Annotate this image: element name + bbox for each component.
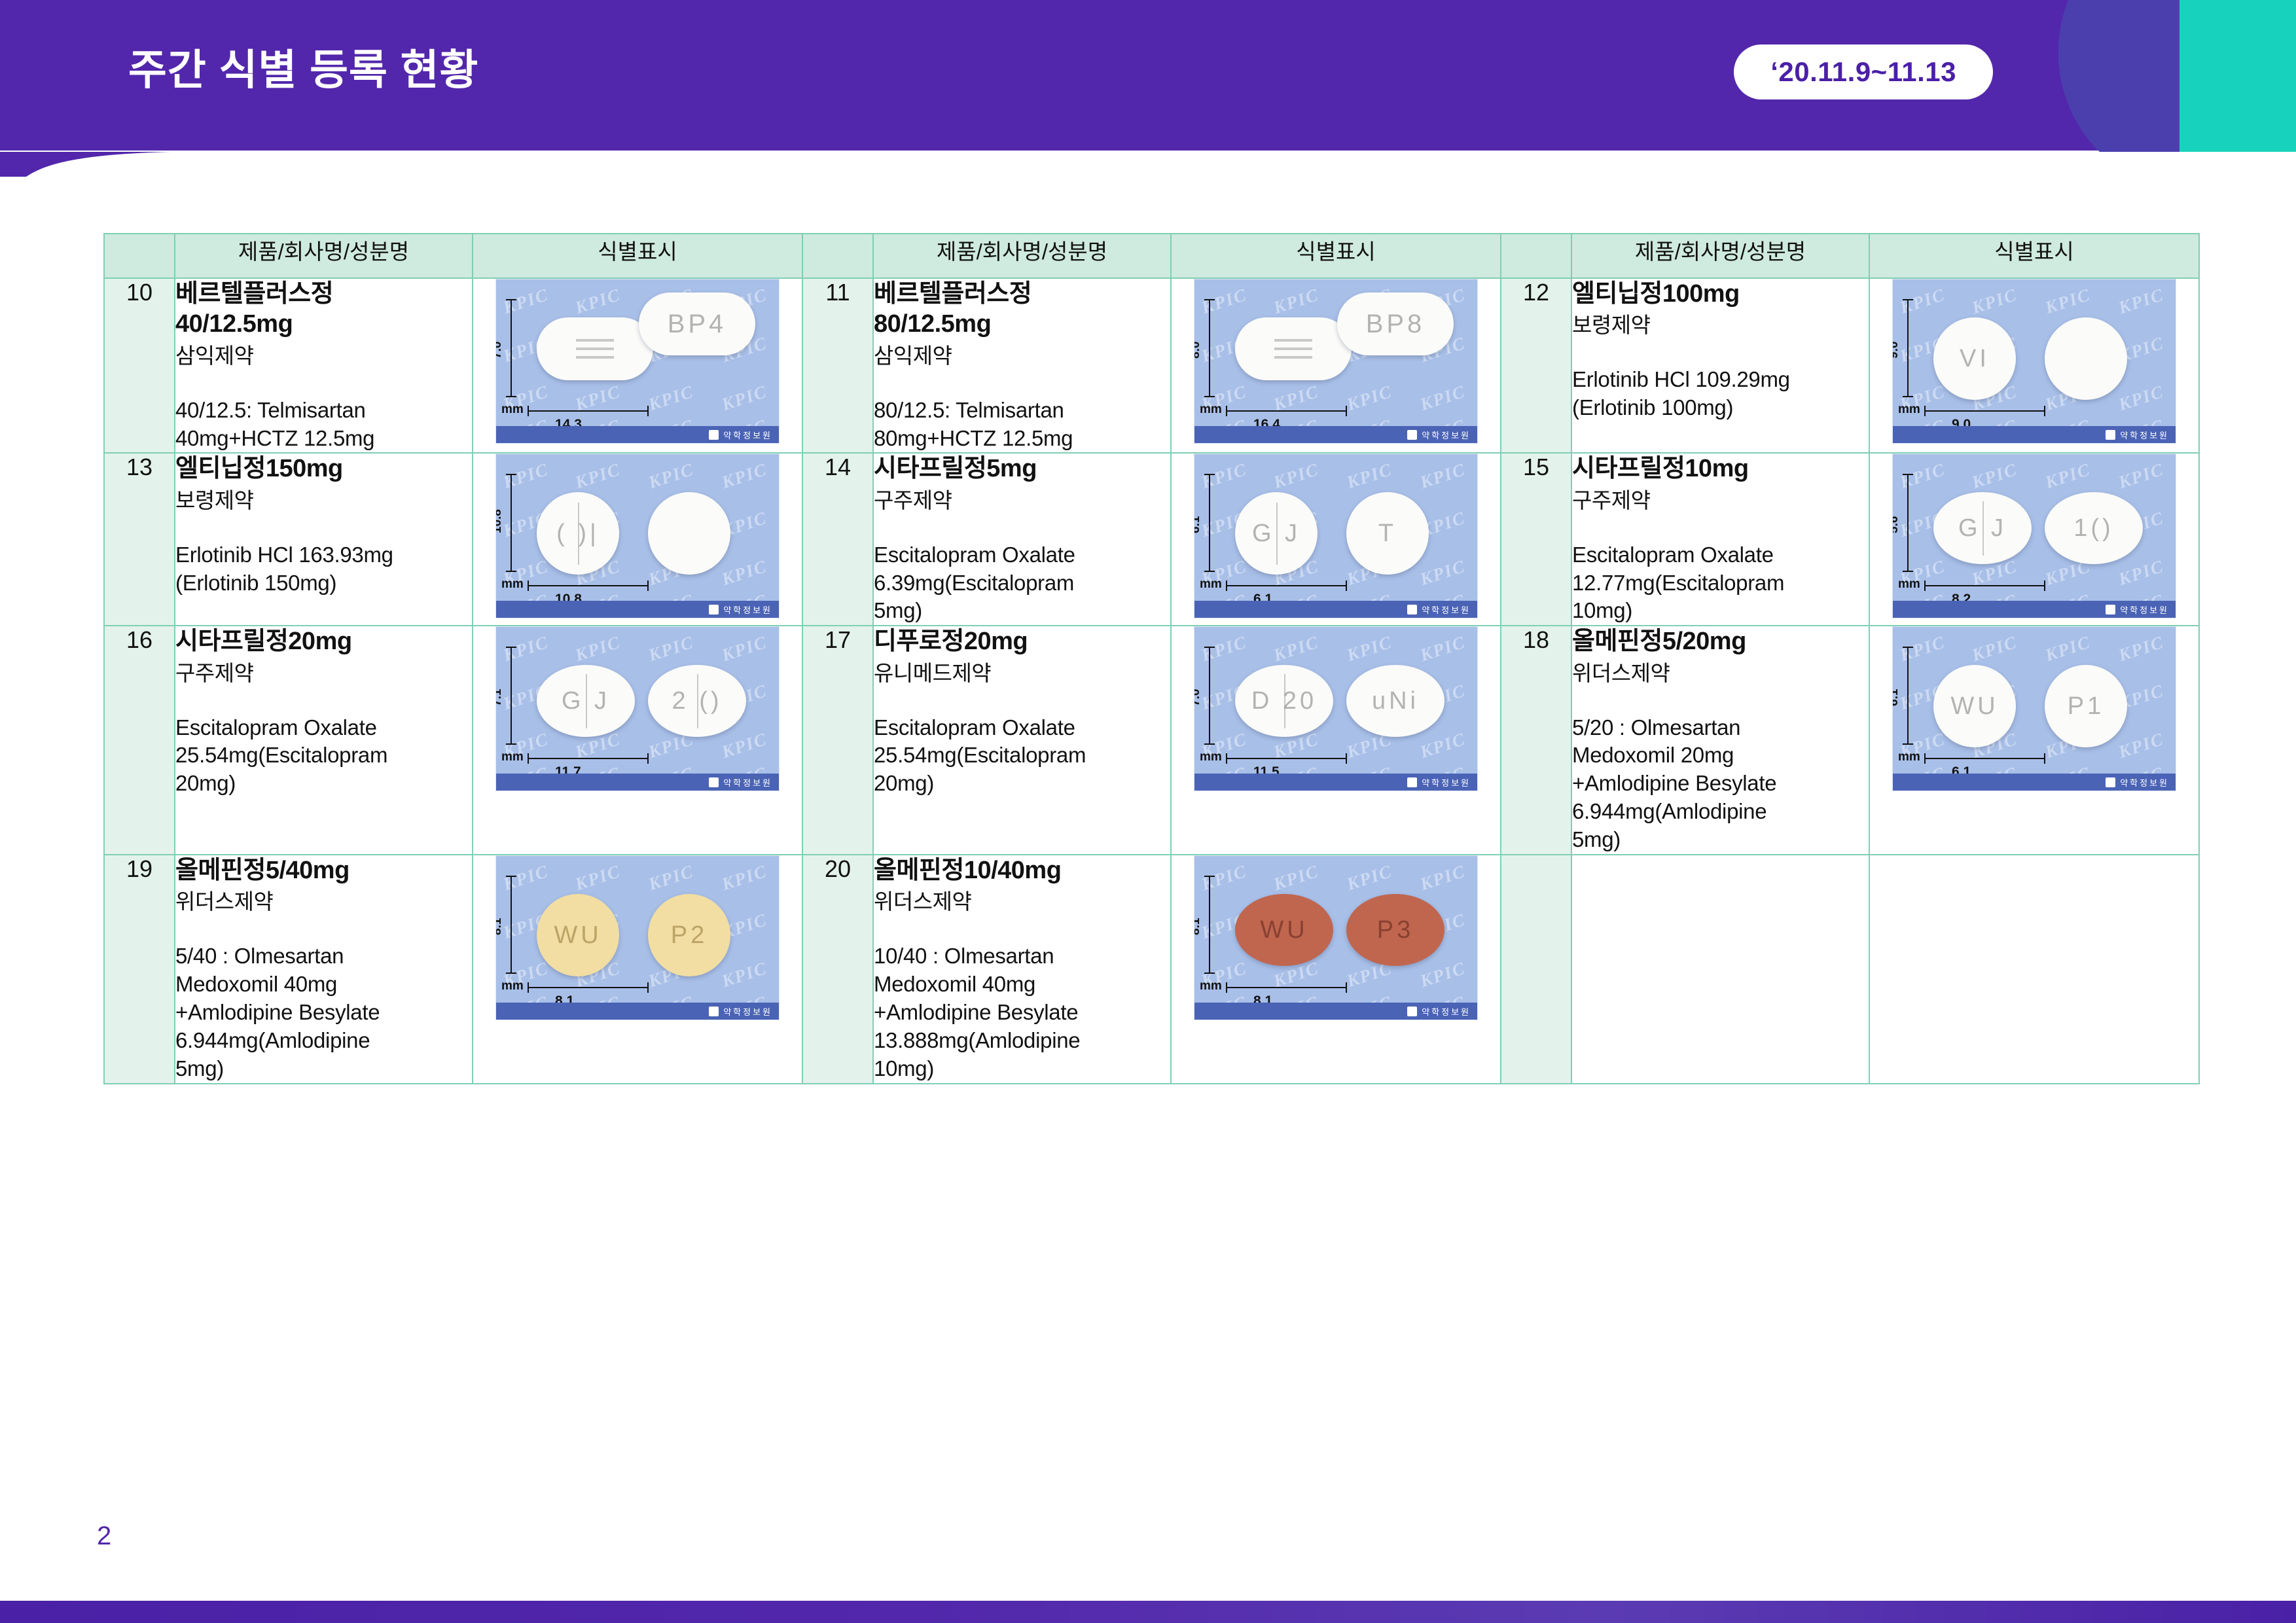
item-number: 11 (802, 278, 873, 453)
item-info-cell: 엘티닙정100mg보령제약Erlotinib HCl 109.29mg (Erl… (1571, 278, 1869, 453)
pill-score-lines (576, 339, 614, 359)
kpic-logo-icon (1407, 430, 1417, 440)
ingredient-text: Escitalopram Oxalate 6.39mg(Escitalopram… (874, 541, 1170, 626)
horizontal-scale-bar (1226, 987, 1347, 988)
pill-score-line (697, 674, 698, 729)
horizontal-scale-bar (528, 410, 649, 412)
item-info-cell: 베르텔플러스정 80/12.5mg삼익제약80/12.5: Telmisarta… (873, 278, 1171, 453)
item-info-cell: 베르텔플러스정 40/12.5mg삼익제약40/12.5: Telmisarta… (175, 278, 473, 453)
empty-info-cell (1571, 855, 1869, 1084)
vertical-scale-bar (1209, 299, 1210, 397)
pill-height-label: 9.0 (1892, 342, 1901, 359)
vertical-scale-bar (1907, 647, 1909, 745)
unit-label: mm (1200, 402, 1222, 417)
pill-imprint-text: uNi (1372, 687, 1419, 715)
pill-height-label: 5.6 (1892, 516, 1901, 533)
photo-credit-bar: 약학정보원 (1893, 601, 2176, 618)
pill-photo: KPICKPICKPICKPICKPICKPICKPICKPICKPICKPIC… (495, 279, 780, 444)
pill-illustration: VI (1933, 317, 2016, 400)
photo-credit-text: 약학정보원 (2120, 603, 2169, 616)
registration-table-wrapper: 제품/회사명/성분명 식별표시 제품/회사명/성분명 식별표시 제품/회사명/성… (103, 233, 2198, 1084)
table-header-row: 제품/회사명/성분명 식별표시 제품/회사명/성분명 식별표시 제품/회사명/성… (104, 234, 2199, 278)
col-header-image-1: 식별표시 (473, 234, 802, 278)
pill-illustration (537, 317, 653, 380)
vertical-scale-bar (1209, 647, 1210, 745)
product-name: 시타프릴정5mg (874, 454, 1170, 484)
col-header-image-3: 식별표시 (1869, 234, 2199, 278)
kpic-logo-icon (1407, 1007, 1417, 1016)
pill-photo: KPICKPICKPICKPICKPICKPICKPICKPICKPICKPIC… (1194, 279, 1478, 444)
item-number: 20 (802, 855, 873, 1084)
item-number: 13 (104, 453, 175, 626)
slide-page: 주간 식별 등록 현황 ‘20.11.9~11.13 제품/회사명/성분명 식별… (0, 0, 2296, 1623)
col-header-number-1 (104, 234, 175, 278)
pill-photo: KPICKPICKPICKPICKPICKPICKPICKPICKPICKPIC… (495, 454, 780, 618)
horizontal-scale-bar (1924, 410, 2045, 412)
item-info-cell: 올메핀정5/20mg위더스제약5/20 : Olmesartan Medoxom… (1571, 626, 1869, 855)
product-name: 베르텔플러스정 80/12.5mg (874, 279, 1170, 340)
item-number: 19 (104, 855, 175, 1084)
ingredient-text: 80/12.5: Telmisartan 80mg+HCTZ 12.5mg (874, 397, 1170, 453)
unit-label: mm (1898, 577, 1920, 592)
unit-label: mm (1200, 750, 1222, 764)
photo-credit-bar: 약학정보원 (1194, 601, 1477, 618)
pill-imprint-text: P1 (2068, 692, 2104, 721)
pill-score-line (578, 503, 579, 565)
col-header-info-3: 제품/회사명/성분명 (1571, 234, 1869, 278)
kpic-logo-icon (709, 1007, 719, 1016)
horizontal-scale-bar (1226, 410, 1347, 412)
item-info-cell: 올메핀정10/40mg위더스제약10/40 : Olmesartan Medox… (873, 855, 1171, 1084)
horizontal-scale-bar (1226, 585, 1347, 586)
company-name: 삼익제약 (874, 342, 1170, 370)
pill-illustration: WU (1933, 665, 2016, 747)
pill-score-lines (1274, 339, 1312, 359)
pill-score-line (1276, 503, 1278, 565)
company-name: 구주제약 (1572, 487, 1869, 515)
item-photo-cell: KPICKPICKPICKPICKPICKPICKPICKPICKPICKPIC… (1171, 626, 1501, 855)
horizontal-scale-bar (528, 758, 649, 759)
pill-illustration (2045, 317, 2127, 400)
horizontal-scale-bar (528, 987, 649, 988)
company-name: 구주제약 (175, 660, 472, 688)
pill-illustration: BP4 (639, 293, 755, 355)
horizontal-scale-bar (1924, 758, 2045, 759)
product-name: 올메핀정5/20mg (1572, 626, 1869, 656)
item-photo-cell: KPICKPICKPICKPICKPICKPICKPICKPICKPICKPIC… (473, 626, 802, 855)
unit-label: mm (501, 750, 524, 764)
pill-illustration (648, 492, 730, 575)
col-header-info-1: 제품/회사명/성분명 (175, 234, 473, 278)
unit-label: mm (1898, 750, 1920, 764)
item-photo-cell: KPICKPICKPICKPICKPICKPICKPICKPICKPICKPIC… (1869, 278, 2199, 453)
pill-photo: KPICKPICKPICKPICKPICKPICKPICKPICKPICKPIC… (1892, 454, 2176, 618)
item-info-cell: 디푸로정20mg유니메드제약Escitalopram Oxalate 25.54… (873, 626, 1171, 855)
vertical-scale-bar (511, 647, 512, 745)
page-number: 2 (97, 1522, 111, 1551)
item-number: 17 (802, 626, 873, 855)
pill-imprint-text: BP4 (668, 310, 727, 339)
pill-illustration: WU (1235, 894, 1333, 966)
pill-height-label: 7.0 (495, 342, 505, 359)
pill-illustration: P1 (2045, 665, 2127, 747)
item-photo-cell: KPICKPICKPICKPICKPICKPICKPICKPICKPICKPIC… (473, 855, 802, 1084)
kpic-logo-icon (2106, 777, 2115, 787)
pill-illustration: BP8 (1337, 293, 1454, 355)
company-name: 위더스제약 (175, 888, 472, 916)
unit-label: mm (501, 577, 524, 592)
item-number: 18 (1501, 626, 1571, 855)
item-photo-cell: KPICKPICKPICKPICKPICKPICKPICKPICKPICKPIC… (473, 453, 802, 626)
col-header-image-2: 식별표시 (1171, 234, 1501, 278)
pill-imprint-text: WU (1260, 916, 1308, 944)
pill-score-line (1284, 674, 1285, 729)
item-info-cell: 올메핀정5/40mg위더스제약5/40 : Olmesartan Medoxom… (175, 855, 473, 1084)
horizontal-scale-bar (1226, 758, 1347, 759)
unit-label: mm (501, 402, 524, 417)
kpic-logo-icon (709, 605, 719, 615)
pill-height-label: 6.1 (1194, 516, 1203, 533)
photo-credit-bar: 약학정보원 (1893, 426, 2176, 443)
pill-height-label: 8.1 (1194, 918, 1203, 935)
item-info-cell: 시타프릴정10mg구주제약Escitalopram Oxalate 12.77m… (1571, 453, 1869, 626)
vertical-scale-bar (1907, 299, 1909, 397)
horizontal-scale-bar (528, 585, 649, 586)
pill-illustration: 1() (2045, 492, 2143, 564)
product-name: 시타프릴정10mg (1572, 454, 1869, 484)
unit-label: mm (501, 979, 524, 993)
vertical-scale-bar (511, 474, 512, 572)
vertical-scale-bar (1209, 876, 1210, 974)
unit-label: mm (1898, 402, 1920, 417)
table-row: 13엘티닙정150mg보령제약Erlotinib HCl 163.93mg (E… (104, 453, 2199, 626)
pill-imprint-text: WU (1950, 692, 1998, 721)
item-photo-cell: KPICKPICKPICKPICKPICKPICKPICKPICKPICKPIC… (1869, 626, 2199, 855)
item-photo-cell: KPICKPICKPICKPICKPICKPICKPICKPICKPICKPIC… (1171, 453, 1501, 626)
horizontal-scale-bar (1924, 585, 2045, 586)
product-name: 베르텔플러스정 40/12.5mg (175, 279, 472, 340)
photo-credit-bar: 약학정보원 (496, 426, 779, 443)
photo-credit-text: 약학정보원 (723, 1005, 772, 1018)
ingredient-text: Escitalopram Oxalate 12.77mg(Escitalopra… (1572, 541, 1869, 626)
photo-credit-bar: 약학정보원 (1893, 774, 2176, 791)
photo-credit-bar: 약학정보원 (1194, 774, 1477, 791)
pill-illustration: T (1346, 492, 1429, 575)
photo-credit-text: 약학정보원 (723, 776, 772, 789)
pill-imprint-text: 1() (2073, 514, 2113, 543)
table-head: 제품/회사명/성분명 식별표시 제품/회사명/성분명 식별표시 제품/회사명/성… (104, 234, 2199, 278)
photo-credit-text: 약학정보원 (1422, 429, 1471, 441)
product-name: 올메핀정10/40mg (874, 855, 1170, 885)
pill-height-label: 6.1 (1892, 689, 1901, 706)
pill-score-line (586, 674, 587, 729)
pill-illustration: P3 (1346, 894, 1444, 966)
table-row: 19올메핀정5/40mg위더스제약5/40 : Olmesartan Medox… (104, 855, 2199, 1084)
table-row: 16시타프릴정20mg구주제약Escitalopram Oxalate 25.5… (104, 626, 2199, 855)
pill-illustration: 2 () (648, 665, 746, 737)
vertical-scale-bar (1209, 474, 1210, 572)
photo-credit-text: 약학정보원 (723, 603, 772, 616)
pill-illustration: D 20 (1235, 665, 1333, 737)
pill-imprint-text: WU (554, 921, 601, 950)
ingredient-text: 5/20 : Olmesartan Medoxomil 20mg +Amlodi… (1572, 714, 1869, 854)
pill-height-label: 7.0 (1194, 689, 1203, 706)
empty-photo-cell (1869, 855, 2199, 1084)
page-title: 주간 식별 등록 현황 (128, 37, 478, 97)
item-number: 16 (104, 626, 175, 855)
col-header-number-2 (802, 234, 873, 278)
ingredient-text: 5/40 : Olmesartan Medoxomil 40mg +Amlodi… (175, 942, 472, 1082)
pill-height-label: 7.1 (495, 689, 505, 706)
ingredient-text: Escitalopram Oxalate 25.54mg(Escitalopra… (175, 714, 472, 798)
company-name: 위더스제약 (1572, 660, 1869, 688)
item-info-cell: 엘티닙정150mg보령제약Erlotinib HCl 163.93mg (Erl… (175, 453, 473, 626)
pill-illustration: G J (537, 665, 635, 737)
photo-credit-text: 약학정보원 (2120, 429, 2169, 441)
kpic-logo-icon (709, 777, 719, 787)
photo-credit-text: 약학정보원 (1422, 776, 1471, 789)
ingredient-text: Escitalopram Oxalate 25.54mg(Escitalopra… (874, 714, 1170, 798)
item-number: 14 (802, 453, 873, 626)
footer-bar (0, 1601, 2296, 1623)
col-header-number-3 (1501, 234, 1571, 278)
pill-photo: KPICKPICKPICKPICKPICKPICKPICKPICKPICKPIC… (1194, 626, 1478, 791)
unit-label: mm (1200, 979, 1222, 993)
photo-credit-text: 약학정보원 (1422, 603, 1471, 616)
date-range-badge: ‘20.11.9~11.13 (1734, 45, 1993, 99)
kpic-logo-icon (1407, 777, 1417, 787)
item-photo-cell: KPICKPICKPICKPICKPICKPICKPICKPICKPICKPIC… (1171, 278, 1501, 453)
table-row: 10베르텔플러스정 40/12.5mg삼익제약40/12.5: Telmisar… (104, 278, 2199, 453)
company-name: 보령제약 (175, 487, 472, 515)
pill-height-label: 8.0 (1194, 342, 1203, 359)
ingredient-text: Erlotinib HCl 163.93mg (Erlotinib 150mg) (175, 541, 472, 597)
pill-photo: KPICKPICKPICKPICKPICKPICKPICKPICKPICKPIC… (1892, 279, 2176, 444)
vertical-scale-bar (511, 876, 512, 974)
pill-imprint-text: P3 (1377, 916, 1414, 944)
kpic-logo-icon (1407, 605, 1417, 615)
pill-illustration: ( )| (537, 492, 619, 575)
pill-imprint-text: BP8 (1366, 310, 1426, 339)
pill-photo: KPICKPICKPICKPICKPICKPICKPICKPICKPICKPIC… (1892, 626, 2176, 791)
pill-height-label: 8.1 (495, 918, 505, 935)
pill-photo: KPICKPICKPICKPICKPICKPICKPICKPICKPICKPIC… (495, 626, 780, 791)
photo-credit-text: 약학정보원 (2120, 776, 2169, 789)
pill-photo: KPICKPICKPICKPICKPICKPICKPICKPICKPICKPIC… (1194, 855, 1478, 1020)
item-photo-cell: KPICKPICKPICKPICKPICKPICKPICKPICKPICKPIC… (1869, 453, 2199, 626)
kpic-logo-icon (2106, 605, 2115, 615)
page-header: 주간 식별 등록 현황 ‘20.11.9~11.13 (0, 0, 2296, 177)
item-info-cell: 시타프릴정5mg구주제약Escitalopram Oxalate 6.39mg(… (873, 453, 1171, 626)
col-header-info-2: 제품/회사명/성분명 (873, 234, 1171, 278)
pill-photo: KPICKPICKPICKPICKPICKPICKPICKPICKPICKPIC… (1194, 454, 1478, 618)
pill-illustration: P2 (648, 894, 730, 976)
company-name: 유니메드제약 (874, 660, 1170, 688)
vertical-scale-bar (1907, 474, 1909, 572)
pill-illustration (1235, 317, 1352, 380)
pill-imprint-text: P2 (671, 921, 708, 950)
item-number: 15 (1501, 453, 1571, 626)
item-info-cell: 시타프릴정20mg구주제약Escitalopram Oxalate 25.54m… (175, 626, 473, 855)
empty-number-cell (1501, 855, 1571, 1084)
photo-credit-bar: 약학정보원 (1194, 1003, 1477, 1020)
product-name: 올메핀정5/40mg (175, 855, 472, 885)
table-body: 10베르텔플러스정 40/12.5mg삼익제약40/12.5: Telmisar… (104, 278, 2199, 1084)
photo-credit-bar: 약학정보원 (496, 601, 779, 618)
product-name: 엘티닙정150mg (175, 454, 472, 484)
photo-credit-text: 약학정보원 (723, 429, 772, 441)
pill-photo: KPICKPICKPICKPICKPICKPICKPICKPICKPICKPIC… (495, 855, 780, 1020)
pill-illustration: G J (1933, 492, 2032, 564)
pill-illustration: uNi (1346, 665, 1444, 737)
photo-credit-text: 약학정보원 (1422, 1005, 1471, 1018)
ingredient-text: 40/12.5: Telmisartan 40mg+HCTZ 12.5mg (175, 397, 472, 453)
company-name: 보령제약 (1572, 312, 1869, 340)
item-number: 10 (104, 278, 175, 453)
pill-illustration: WU (537, 894, 619, 976)
product-name: 시타프릴정20mg (175, 626, 472, 656)
item-number: 12 (1501, 278, 1571, 453)
product-name: 디푸로정20mg (874, 626, 1170, 656)
company-name: 위더스제약 (874, 888, 1170, 916)
vertical-scale-bar (511, 299, 512, 397)
pill-height-label: 10.8 (495, 509, 505, 533)
item-photo-cell: KPICKPICKPICKPICKPICKPICKPICKPICKPICKPIC… (1171, 855, 1501, 1084)
pill-imprint-text: VI (1960, 345, 1990, 373)
photo-credit-bar: 약학정보원 (496, 774, 779, 791)
pill-imprint-text: T (1378, 520, 1397, 548)
pill-score-line (1982, 501, 1984, 556)
ingredient-text: 10/40 : Olmesartan Medoxomil 40mg +Amlod… (874, 942, 1170, 1082)
product-name: 엘티닙정100mg (1572, 279, 1869, 309)
unit-label: mm (1200, 577, 1222, 592)
company-name: 삼익제약 (175, 342, 472, 370)
registration-table: 제품/회사명/성분명 식별표시 제품/회사명/성분명 식별표시 제품/회사명/성… (103, 233, 2200, 1084)
ingredient-text: Erlotinib HCl 109.29mg (Erlotinib 100mg) (1572, 366, 1869, 422)
kpic-logo-icon (2106, 430, 2115, 440)
photo-credit-bar: 약학정보원 (1194, 426, 1477, 443)
photo-credit-bar: 약학정보원 (496, 1003, 779, 1020)
company-name: 구주제약 (874, 487, 1170, 515)
kpic-logo-icon (709, 430, 719, 440)
pill-illustration: G J (1235, 492, 1318, 575)
item-photo-cell: KPICKPICKPICKPICKPICKPICKPICKPICKPICKPIC… (473, 278, 802, 453)
